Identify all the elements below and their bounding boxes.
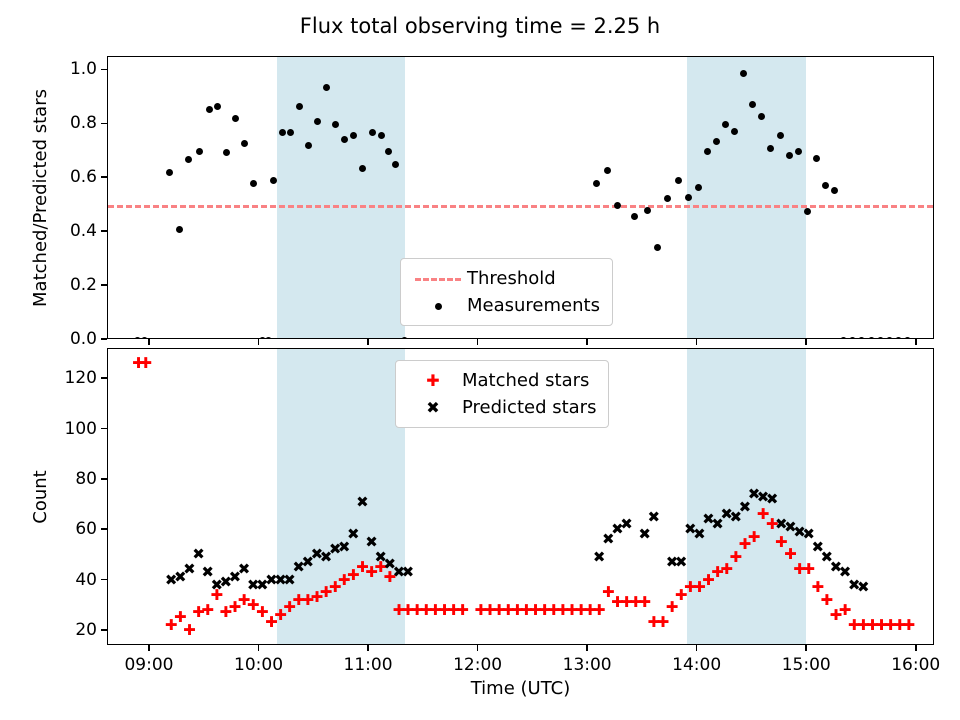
y-tick-label: 120 <box>39 368 97 388</box>
measurement-point <box>877 337 884 340</box>
x-tick-mark <box>148 645 150 651</box>
x-tick-mark <box>367 339 369 345</box>
y-tick-mark <box>101 284 107 286</box>
measurement-point <box>241 140 248 147</box>
measurement-dot-icon <box>409 296 467 316</box>
x-tick-mark <box>586 645 588 651</box>
measurement-point <box>341 136 348 143</box>
y-tick-mark <box>101 176 107 178</box>
figure-title: Flux total observing time = 2.25 h <box>0 14 960 38</box>
measurement-point <box>904 337 911 340</box>
x-tick-mark <box>148 339 150 345</box>
measurement-point <box>250 180 257 187</box>
shaded-region <box>687 349 805 644</box>
measurement-point <box>840 337 847 340</box>
y-tick-mark <box>101 629 107 631</box>
measurement-point <box>176 226 183 233</box>
x-tick-label: 16:00 <box>876 655 956 675</box>
y-tick-mark <box>101 230 107 232</box>
predicted-star-marker: ✖ <box>347 527 360 542</box>
measurement-point <box>722 121 729 128</box>
x-tick-mark <box>258 339 260 345</box>
x-tick-mark <box>696 339 698 345</box>
predicted-star-marker: ✖ <box>857 580 870 595</box>
x-tick-label: 10:00 <box>219 655 299 675</box>
matched-star-marker: ✚ <box>183 623 196 638</box>
matched-star-marker: ✚ <box>456 603 469 618</box>
legend-label-measurements: Measurements <box>467 295 600 316</box>
measurement-point <box>804 208 811 215</box>
measurement-point <box>795 148 802 155</box>
predicted-star-marker: ✖ <box>356 495 369 510</box>
x-tick-mark <box>805 339 807 345</box>
plus-marker-icon: ✚ <box>404 371 462 391</box>
measurement-point <box>265 337 272 340</box>
x-tick-mark <box>477 645 479 651</box>
legend-label-matched-stars: Matched stars <box>462 370 589 391</box>
measurement-point <box>664 195 671 202</box>
measurement-point <box>749 101 756 108</box>
top-panel-legend: Threshold Measurements <box>400 258 613 326</box>
x-tick-label: 12:00 <box>438 655 518 675</box>
measurement-point <box>895 337 902 340</box>
predicted-star-marker: ✖ <box>766 492 779 507</box>
y-tick-mark <box>101 377 107 379</box>
legend-label-predicted-stars: Predicted stars <box>462 397 596 418</box>
y-tick-mark <box>101 123 107 125</box>
measurement-point <box>593 180 600 187</box>
measurement-point <box>385 148 392 155</box>
x-tick-mark <box>586 339 588 345</box>
shaded-region <box>687 57 805 338</box>
measurement-point <box>166 169 173 176</box>
x-tick-label: 14:00 <box>657 655 737 675</box>
y-tick-label: 1.0 <box>39 59 97 79</box>
legend-label-threshold: Threshold <box>467 268 556 289</box>
measurement-point <box>740 70 747 77</box>
x-tick-mark <box>696 645 698 651</box>
measurement-point <box>858 337 865 340</box>
figure-root: Flux total observing time = 2.25 h 0.00.… <box>0 0 960 720</box>
matched-star-marker: ✚ <box>201 603 214 618</box>
matched-star-marker: ✚ <box>748 530 761 545</box>
y-tick-label: 0.0 <box>39 329 97 349</box>
x-tick-mark <box>915 645 917 651</box>
measurement-point <box>777 132 784 139</box>
matched-star-marker: ✚ <box>802 562 815 577</box>
x-tick-label: 09:00 <box>109 655 189 675</box>
measurement-point <box>868 337 875 340</box>
x-tick-mark <box>805 645 807 651</box>
measurement-point <box>332 121 339 128</box>
measurement-point <box>604 167 611 174</box>
measurement-point <box>369 129 376 136</box>
y-tick-mark <box>101 428 107 430</box>
cross-marker-icon: ✖ <box>404 398 462 418</box>
y-tick-mark <box>101 478 107 480</box>
y-tick-mark <box>101 338 107 340</box>
matched-star-marker: ✚ <box>657 615 670 630</box>
measurement-point <box>704 148 711 155</box>
bottom-panel-legend: ✚ Matched stars ✖ Predicted stars <box>395 360 609 428</box>
x-axis-label: Time (UTC) <box>107 678 934 699</box>
measurement-point <box>134 337 141 340</box>
x-tick-label: 13:00 <box>547 655 627 675</box>
measurement-point <box>378 132 385 139</box>
predicted-star-marker: ✖ <box>693 527 706 542</box>
predicted-star-marker: ✖ <box>593 550 606 565</box>
matched-star-marker: ✚ <box>903 618 916 633</box>
legend-row-measurements: Measurements <box>409 292 600 319</box>
measurement-point <box>401 337 408 340</box>
measurement-point <box>675 177 682 184</box>
predicted-star-marker: ✖ <box>620 517 633 532</box>
legend-row-threshold: Threshold <box>409 265 600 292</box>
x-tick-mark <box>367 645 369 651</box>
measurement-point <box>644 207 651 214</box>
measurement-point <box>695 184 702 191</box>
measurement-point <box>287 129 294 136</box>
y-tick-mark <box>101 579 107 581</box>
matched-star-marker: ✚ <box>139 356 152 371</box>
measurement-point <box>206 106 213 113</box>
measurement-point <box>822 182 829 189</box>
x-tick-mark <box>258 645 260 651</box>
measurement-point <box>223 149 230 156</box>
measurement-point <box>849 337 856 340</box>
x-tick-label: 15:00 <box>766 655 846 675</box>
matched-star-marker: ✚ <box>593 603 606 618</box>
measurement-point <box>350 132 357 139</box>
predicted-star-marker: ✖ <box>675 555 688 570</box>
y-tick-mark <box>101 528 107 530</box>
measurement-point <box>786 152 793 159</box>
x-tick-label: 11:00 <box>328 655 408 675</box>
x-tick-mark <box>915 339 917 345</box>
legend-row-matched-stars: ✚ Matched stars <box>404 367 596 394</box>
measurement-point <box>232 115 239 122</box>
y-tick-label: 20 <box>39 620 97 640</box>
measurement-point <box>270 177 277 184</box>
predicted-star-marker: ✖ <box>192 547 205 562</box>
measurement-point <box>813 155 820 162</box>
measurement-point <box>196 148 203 155</box>
measurement-point <box>886 337 893 340</box>
y-tick-label: 40 <box>39 570 97 590</box>
x-tick-mark <box>477 339 479 345</box>
measurement-point <box>731 128 738 135</box>
threshold-dash-icon <box>409 269 467 289</box>
measurement-point <box>185 156 192 163</box>
shaded-region <box>277 57 404 338</box>
predicted-star-marker: ✖ <box>402 565 415 580</box>
measurement-point <box>831 187 838 194</box>
matched-star-marker: ✚ <box>638 595 651 610</box>
predicted-star-marker: ✖ <box>638 527 651 542</box>
legend-row-predicted-stars: ✖ Predicted stars <box>404 394 596 421</box>
y-tick-label: 100 <box>39 419 97 439</box>
predicted-star-marker: ✖ <box>648 510 661 525</box>
bottom-panel-y-axis-label: Count <box>30 470 51 523</box>
measurement-point <box>631 213 638 220</box>
predicted-star-marker: ✖ <box>183 562 196 577</box>
measurement-point <box>141 337 148 340</box>
measurement-point <box>654 244 661 251</box>
top-panel-y-axis-label: Matched/Predicted stars <box>30 89 51 307</box>
measurement-point <box>214 103 221 110</box>
y-tick-mark <box>101 69 107 71</box>
